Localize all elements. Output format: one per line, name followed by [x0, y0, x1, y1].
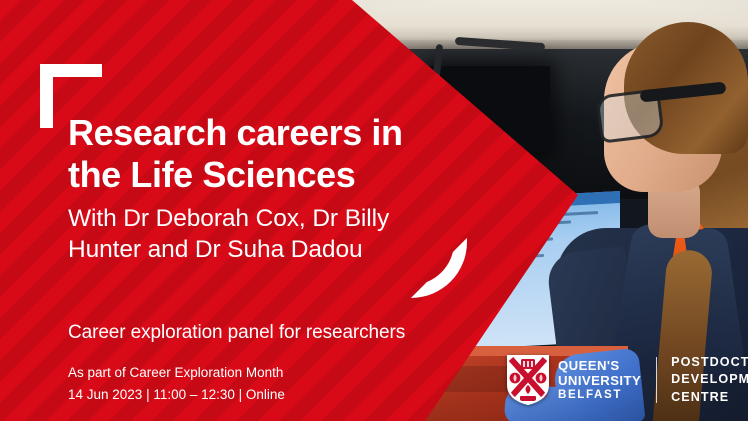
centre-wordmark-line-3: CENTRE: [671, 389, 748, 406]
centre-wordmark-line-2: DEVELOPMENT: [671, 371, 748, 388]
page-title: Research careers in the Life Sciences: [68, 112, 458, 196]
headline-line-2: the Life Sciences: [68, 154, 458, 196]
headline-line-1: Research careers in: [68, 112, 458, 154]
university-wordmark-line-3: BELFAST: [558, 388, 641, 401]
presenter-list: With Dr Deborah Cox, Dr Billy Hunter and…: [68, 203, 468, 265]
university-wordmark-line-1: QUEEN'S: [558, 358, 641, 373]
queens-university-belfast-crest-icon: [507, 355, 549, 405]
logo-divider: [656, 357, 657, 403]
event-poster: Research careers in the Life Sciences Wi…: [0, 0, 748, 421]
presenter-line-1: With Dr Deborah Cox, Dr Billy: [68, 203, 468, 234]
centre-wordmark: POSTDOCTORAL DEVELOPMENT CENTRE: [671, 354, 748, 405]
event-details: As part of Career Exploration Month 14 J…: [68, 362, 285, 406]
logo-lockup: QUEEN'S UNIVERSITY BELFAST POSTDOCTORAL …: [507, 352, 748, 408]
presenter-line-2: Hunter and Dr Suha Dadou: [68, 234, 468, 265]
event-datetime-line: 14 Jun 2023 | 11:00 – 12:30 | Online: [68, 384, 285, 406]
centre-wordmark-line-1: POSTDOCTORAL: [671, 354, 748, 371]
university-wordmark: QUEEN'S UNIVERSITY BELFAST: [558, 358, 641, 401]
university-wordmark-line-2: UNIVERSITY: [558, 373, 641, 388]
event-context-line: As part of Career Exploration Month: [68, 362, 285, 384]
event-strapline: Career exploration panel for researchers: [68, 322, 405, 344]
